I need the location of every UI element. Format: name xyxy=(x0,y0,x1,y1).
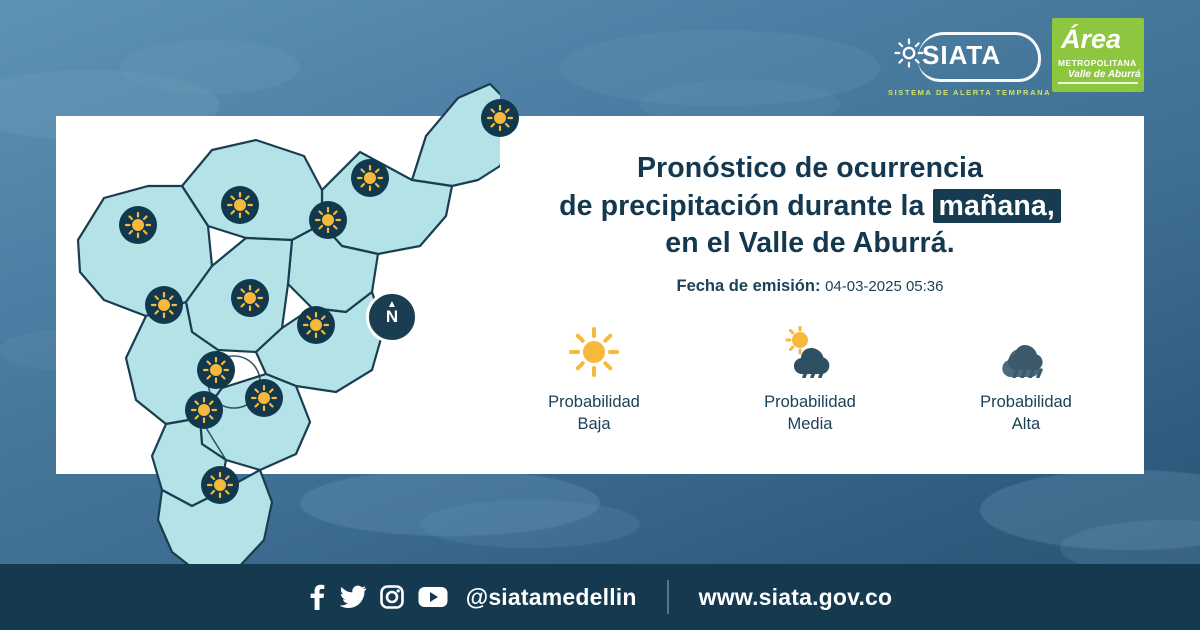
youtube-icon[interactable] xyxy=(418,586,448,608)
page-title: Pronóstico de ocurrencia de precipitació… xyxy=(500,150,1120,263)
marker-girardota[interactable] xyxy=(351,159,389,197)
compass-label: N xyxy=(386,307,398,327)
marker-copacabana[interactable] xyxy=(309,201,347,239)
logo-bar: SIATA SISTEMA DE ALERTA TEMPRANA Área ME… xyxy=(892,18,1144,108)
compass-rose: ▲ N xyxy=(366,291,418,343)
sun-icon xyxy=(236,284,264,312)
sun-icon xyxy=(519,325,669,379)
sun-cloud-rain-icon xyxy=(735,325,885,379)
website-url[interactable]: www.siata.gov.co xyxy=(699,584,893,611)
probability-legend: Probabilidad Baja xyxy=(500,325,1120,436)
legend-baja-line2: Baja xyxy=(519,413,669,435)
sun-icon xyxy=(202,356,230,384)
legend-alta-line1: Probabilidad xyxy=(951,391,1101,413)
issue-date-value: 04-03-2025 05:36 xyxy=(825,278,943,295)
area-rule xyxy=(1058,82,1138,84)
title-line-2: de precipitación durante la mañana, xyxy=(500,188,1120,226)
marker-caldas[interactable] xyxy=(201,466,239,504)
legend-item-baja: Probabilidad Baja xyxy=(519,325,669,436)
marker-itagui[interactable] xyxy=(245,379,283,417)
legend-media-line1: Probabilidad xyxy=(735,391,885,413)
valle-de-aburra-map: ▲ N xyxy=(60,40,500,580)
legend-label-alta: Probabilidad Alta xyxy=(951,391,1101,436)
marker-medellin-norte[interactable] xyxy=(145,286,183,324)
siata-tagline: SISTEMA DE ALERTA TEMPRANA xyxy=(888,88,1048,97)
cloud-rain-icon xyxy=(951,325,1101,379)
marker-barbosa[interactable] xyxy=(481,99,519,137)
area-metropolitana-logo: Área METROPOLITANA Valle de Aburrá xyxy=(1052,18,1144,92)
sun-icon xyxy=(486,104,514,132)
legend-label-media: Probabilidad Media xyxy=(735,391,885,436)
siata-sun-icon xyxy=(894,38,924,68)
legend-media-line2: Media xyxy=(735,413,885,435)
headline-block: Pronóstico de ocurrencia de precipitació… xyxy=(500,150,1120,296)
legend-item-alta: Probabilidad Alta xyxy=(951,325,1101,436)
poster: SIATA SISTEMA DE ALERTA TEMPRANA Área ME… xyxy=(0,0,1200,630)
sun-icon xyxy=(302,311,330,339)
title-line-3: en el Valle de Aburrá. xyxy=(500,225,1120,263)
legend-alta-line2: Alta xyxy=(951,413,1101,435)
sun-icon xyxy=(150,291,178,319)
compass-caret: ▲ xyxy=(387,299,397,310)
sun-icon xyxy=(226,191,254,219)
sun-icon xyxy=(206,471,234,499)
area-wordmark: Área xyxy=(1061,24,1121,55)
marker-don-matias[interactable] xyxy=(221,186,259,224)
legend-item-media: Probabilidad Media xyxy=(735,325,885,436)
title-line-1: Pronóstico de ocurrencia xyxy=(500,150,1120,188)
legend-label-baja: Probabilidad Baja xyxy=(519,391,669,436)
issue-date: Fecha de emisión: 04-03-2025 05:36 xyxy=(500,277,1120,296)
sun-icon xyxy=(124,211,152,239)
marker-bello[interactable] xyxy=(231,279,269,317)
marker-san-pedro[interactable] xyxy=(119,206,157,244)
social-icons xyxy=(308,584,448,610)
issue-date-label: Fecha de emisión: xyxy=(677,277,821,295)
sun-icon xyxy=(314,206,342,234)
twitter-icon[interactable] xyxy=(340,585,366,609)
siata-logo: SIATA SISTEMA DE ALERTA TEMPRANA xyxy=(892,18,1042,102)
marker-medellin-sur[interactable] xyxy=(197,351,235,389)
sun-icon xyxy=(356,164,384,192)
marker-envigado[interactable] xyxy=(185,391,223,429)
footer-divider xyxy=(667,580,669,614)
facebook-icon[interactable] xyxy=(308,584,326,610)
footer-bar: @siatamedellin www.siata.gov.co xyxy=(0,564,1200,630)
municipality-barbosa xyxy=(412,84,500,186)
title-highlight: mañana, xyxy=(933,189,1061,223)
sun-icon xyxy=(190,396,218,424)
title-line-2-text: de precipitación durante la xyxy=(559,190,924,222)
area-line1: METROPOLITANA xyxy=(1058,58,1137,68)
social-handle[interactable]: @siatamedellin xyxy=(466,584,637,611)
area-line2: Valle de Aburrá xyxy=(1068,69,1141,80)
map-svg xyxy=(60,40,500,580)
legend-baja-line1: Probabilidad xyxy=(519,391,669,413)
instagram-icon[interactable] xyxy=(380,585,404,609)
siata-wordmark: SIATA xyxy=(922,40,1001,71)
sun-icon xyxy=(250,384,278,412)
marker-medellin-centro[interactable] xyxy=(297,306,335,344)
